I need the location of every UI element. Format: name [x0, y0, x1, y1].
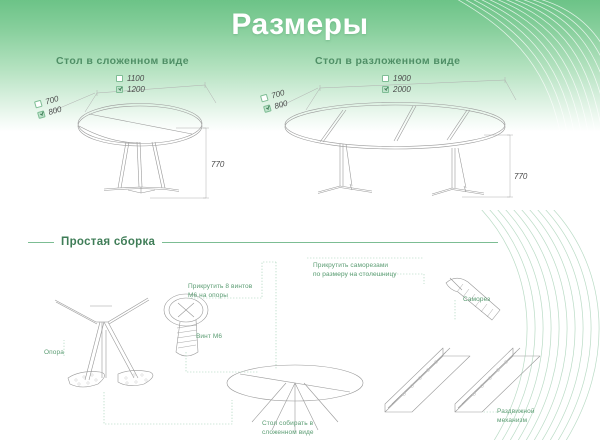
dim-group-folded-width: 1100 1200 — [116, 73, 145, 95]
dim-group-open-width: 1900 2000 — [382, 73, 411, 95]
label-screw: Саморез — [463, 296, 490, 305]
label-mechanism: Раздвижной механизм — [497, 408, 535, 426]
dim-value: 2000 — [393, 85, 411, 94]
dim-option-row[interactable]: 1100 — [116, 73, 145, 83]
checkbox-unchecked-icon[interactable] — [34, 99, 43, 108]
dim-option-row[interactable]: 1200 — [116, 84, 145, 94]
dim-value: 800 — [273, 98, 288, 110]
checkbox-checked-icon[interactable] — [263, 104, 272, 113]
dim-value: 1900 — [393, 74, 411, 83]
dim-height-folded: 770 — [211, 160, 224, 169]
note-folded-assembly: Стол собирать в сложенном виде — [262, 420, 314, 438]
note-screws: Прикрутить саморезами по размеру на стол… — [313, 262, 397, 280]
divider-left — [28, 242, 54, 243]
dim-option-row[interactable]: 2000 — [382, 84, 411, 94]
section-caption-folded: Стол в сложенном виде — [56, 55, 189, 67]
assembly-section-header: Простая сборка — [28, 236, 498, 248]
label-bolt: Винт М6 — [196, 333, 222, 342]
checkbox-unchecked-icon[interactable] — [382, 75, 389, 82]
dim-option-row[interactable]: 1900 — [382, 73, 411, 83]
checkbox-checked-icon[interactable] — [382, 86, 389, 93]
checkbox-checked-icon[interactable] — [37, 110, 46, 119]
page-title: Размеры — [0, 8, 600, 42]
checkbox-checked-icon[interactable] — [116, 86, 123, 93]
dim-value: 1200 — [127, 85, 145, 94]
dim-height-open: 770 — [514, 172, 527, 181]
dim-value: 1100 — [127, 74, 144, 83]
note-bolts: Прикрутить 8 винтов М6 на опоры — [188, 283, 252, 301]
checkbox-unchecked-icon[interactable] — [260, 93, 269, 102]
dim-value: 800 — [47, 104, 62, 116]
divider-right — [162, 242, 498, 243]
infographic-page: Размеры Стол в сложенном виде Стол в раз… — [0, 0, 600, 440]
checkbox-unchecked-icon[interactable] — [116, 75, 123, 82]
label-leg: Опора — [44, 349, 64, 358]
section-caption-open: Стол в разложенном виде — [315, 55, 460, 67]
assembly-title: Простая сборка — [61, 236, 155, 248]
